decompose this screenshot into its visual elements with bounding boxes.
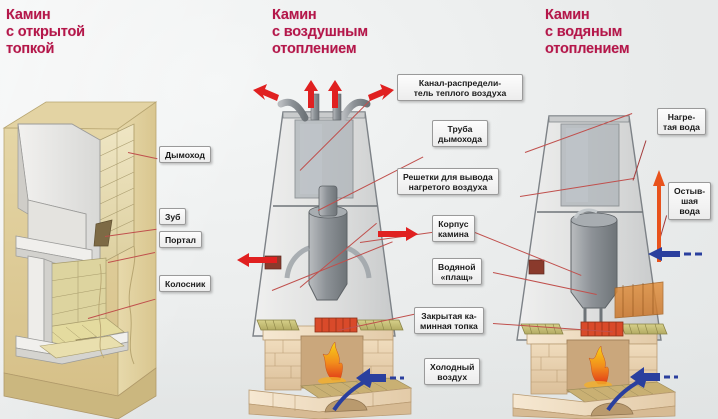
- label-tooth: Зуб: [159, 208, 186, 225]
- title-line: Камин: [6, 7, 85, 24]
- label-fireplace-body: Корпус камина: [432, 215, 475, 242]
- label-chimney: Дымоход: [159, 146, 211, 163]
- arrow-blue-icon: [630, 362, 678, 392]
- label-hot-air-grilles: Решетки для вывода нагретого воздуха: [397, 168, 499, 195]
- open-hearth-illustration: [0, 96, 185, 419]
- title-line: Камин: [545, 7, 629, 24]
- arrow-red-icon: [327, 80, 343, 108]
- label-cooled-water: Остыв- шая вода: [668, 182, 711, 220]
- arrow-blue-icon: [356, 362, 404, 394]
- label-water-jacket: Водяной «плащ»: [432, 258, 482, 285]
- section-title-open-hearth: Камин с открытой топкой: [6, 7, 85, 58]
- arrow-red-icon: [378, 226, 418, 242]
- label-heated-water: Нагре- тая вода: [657, 108, 706, 135]
- label-grate: Колосник: [159, 275, 211, 292]
- section-title-air-heating: Камин с воздушным отоплением: [272, 7, 368, 58]
- title-line: отоплением: [272, 41, 368, 58]
- section-title-water-heating: Камин с водяным отоплением: [545, 7, 629, 58]
- title-line: отоплением: [545, 41, 629, 58]
- arrow-red-icon: [303, 80, 319, 108]
- arrow-red-icon: [253, 84, 295, 110]
- label-cold-air: Холодный воздух: [424, 358, 480, 385]
- label-flue-pipe: Труба дымохода: [432, 120, 488, 147]
- diagram-canvas: Камин с открытой топкой Камин с воздушны…: [0, 0, 718, 419]
- title-line: топкой: [6, 41, 85, 58]
- title-line: Камин: [272, 7, 368, 24]
- arrow-red-icon: [352, 84, 394, 110]
- title-line: с открытой: [6, 24, 85, 41]
- arrow-red-icon: [237, 252, 277, 268]
- title-line: с водяным: [545, 24, 629, 41]
- label-closed-firebox: Закрытая ка- минная топка: [414, 307, 484, 334]
- title-line: с воздушным: [272, 24, 368, 41]
- label-hot-air-distribution-duct: Канал-распредели- тель теплого воздуха: [397, 74, 523, 101]
- label-portal: Портал: [159, 231, 202, 248]
- arrow-blue-icon: [648, 246, 704, 262]
